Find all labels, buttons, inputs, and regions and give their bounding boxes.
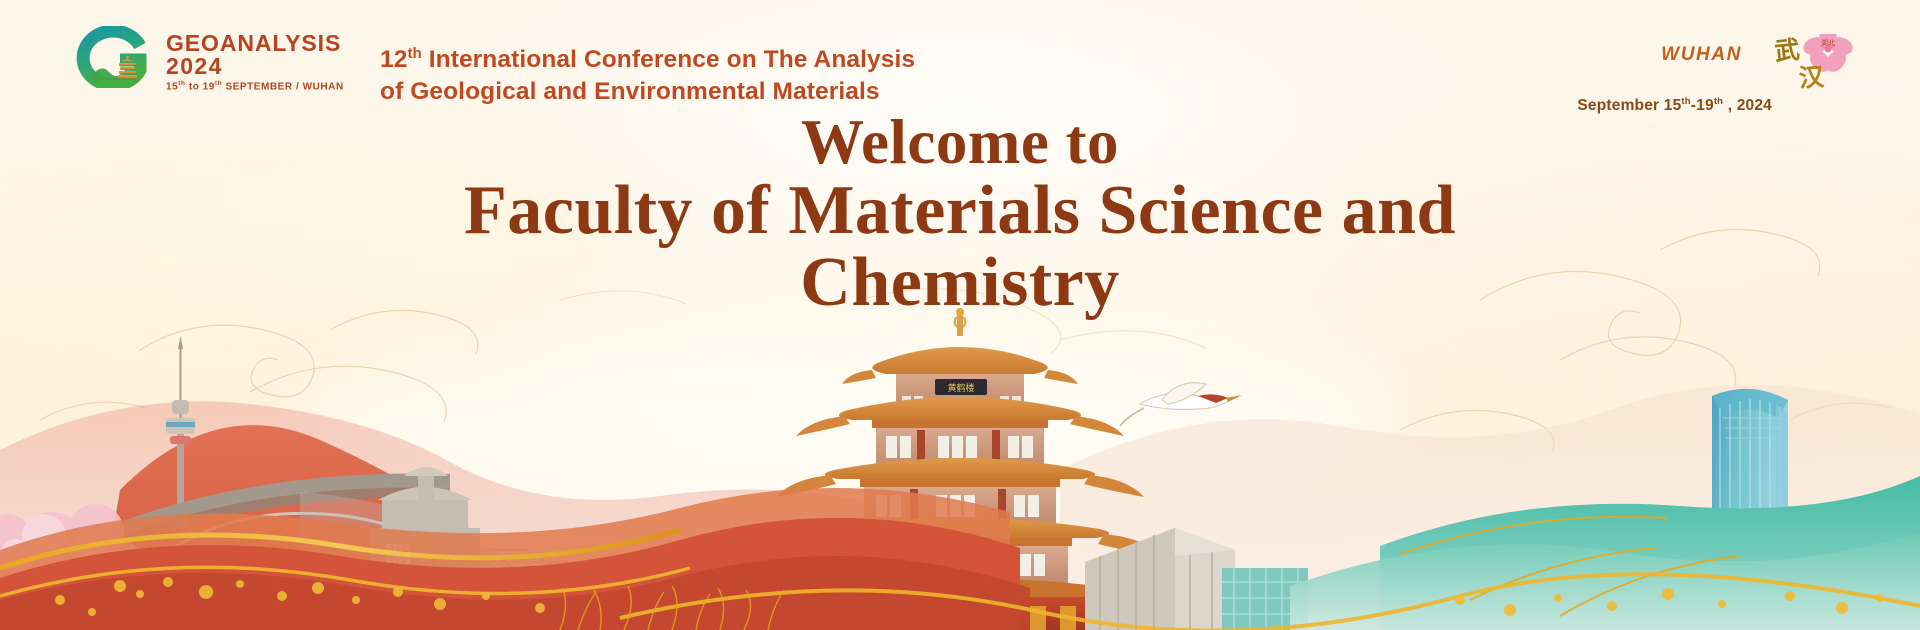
- logo-year-text: 2024: [166, 55, 344, 78]
- conference-title-line-2: of Geological and Environmental Material…: [380, 76, 915, 107]
- logo-dates-text: 15th to 19th SEPTEMBER / WUHAN: [166, 80, 344, 92]
- wuhan-locale-block: WUHAN: [1577, 34, 1868, 115]
- crane-bird: [1120, 383, 1242, 426]
- tower-plaque-text: 黄鹤楼: [947, 382, 974, 394]
- banner-header: GEOANALYSIS 2024 15th to 19th SEPTEMBER …: [0, 0, 1920, 110]
- wuhan-cjk-char-2: 汉: [1798, 62, 1826, 93]
- welcome-heading: Welcome to Faculty of Materials Science …: [0, 110, 1920, 319]
- welcome-line-1: Welcome to: [0, 110, 1920, 175]
- wuhan-city-label: WUHAN: [1661, 44, 1742, 66]
- welcome-line-2: Faculty of Materials Science and: [0, 175, 1920, 247]
- conference-title: 12th International Conference on The Ana…: [380, 44, 915, 107]
- geoanalysis-logo-block: GEOANALYSIS 2024 15th to 19th SEPTEMBER …: [70, 26, 344, 92]
- wuhan-calligraphy-group: 湖北 武 汉: [1750, 34, 1868, 94]
- wuhan-skyline-illustration: 黄鹤楼: [0, 300, 1920, 630]
- geoanalysis-g-logo-icon: [70, 26, 154, 88]
- conference-title-line-1: 12th International Conference on The Ana…: [380, 44, 915, 76]
- logo-geoanalysis-text: GEOANALYSIS: [166, 32, 344, 54]
- province-cjk-text: 湖北: [1821, 38, 1835, 47]
- wuhan-cjk-char-1: 武: [1773, 35, 1801, 66]
- conference-banner: GEOANALYSIS 2024 15th to 19th SEPTEMBER …: [0, 0, 1920, 630]
